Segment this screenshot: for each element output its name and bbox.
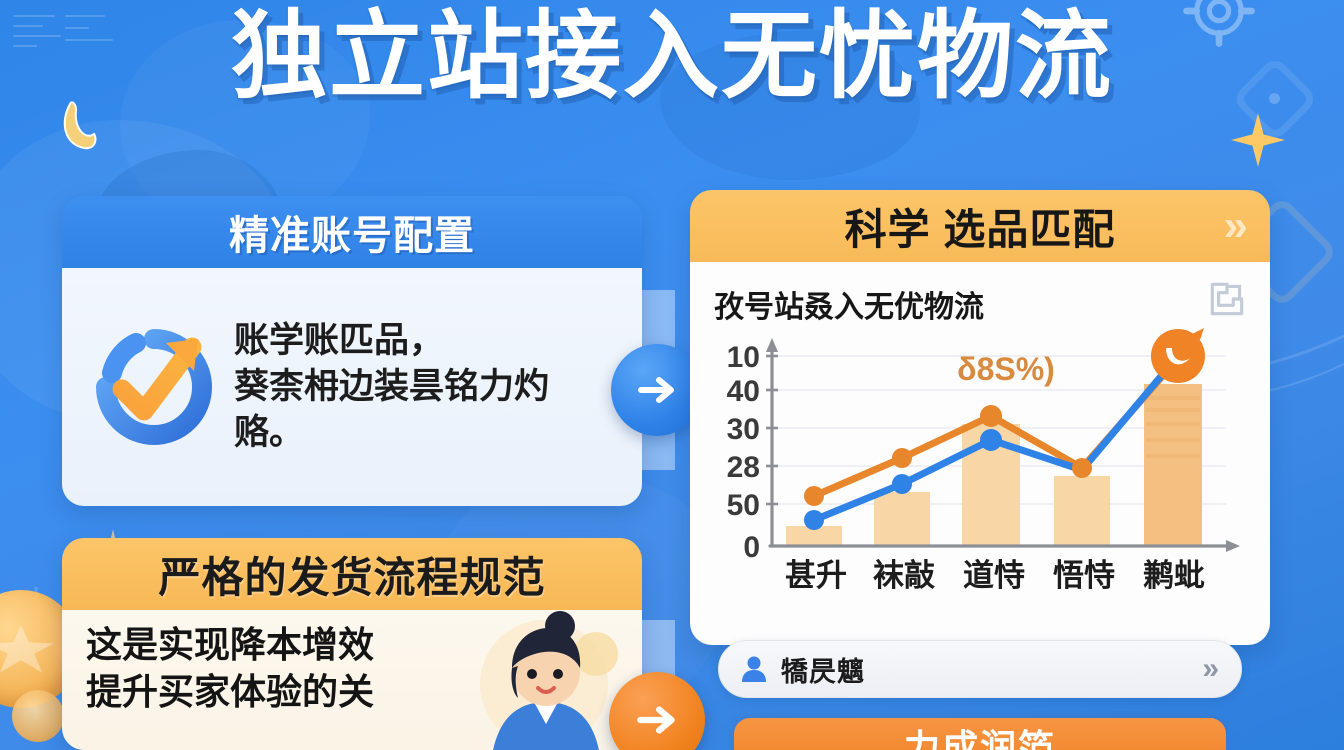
y-tick-label: 10 [727, 341, 760, 374]
chart-annotation-label: δ8S%) [957, 351, 1055, 387]
person-icon [739, 654, 769, 684]
y-tick-label: 30 [727, 413, 760, 446]
card-account-configuration[interactable]: 精准账号配置 账学账匹品， 葵柰枏边装昙铭力灼 赂。 [62, 196, 642, 506]
x-tick-label: 甚升 [785, 558, 847, 593]
sales-trend-chart: 10 40 30 28 50 0 甚升 袜敲 道恃 悟恃 鹣蚍 δ8S%) [706, 328, 1254, 598]
coin-decoration [12, 690, 64, 742]
account-summary-label: 犞昃魑 [781, 650, 865, 689]
card-product-header-label: 科学 选品匹配 [845, 196, 1116, 257]
card-account-header-label: 精准账号配置 [229, 203, 475, 261]
y-tick-label: 50 [727, 489, 760, 522]
chart-text-layer: 10 40 30 28 50 0 甚升 袜敲 道恃 悟恃 鹣蚍 δ8S%) [706, 328, 1254, 598]
card-account-body: 账学账匹品， 葵柰枏边装昙铭力灼 赂。 [62, 268, 642, 506]
card-product-body: 孜号站叒入无优物流 [690, 262, 1270, 645]
arrow-right-icon [633, 366, 681, 414]
chevron-double-right-icon[interactable]: » [1202, 654, 1219, 684]
sparkle-star-icon [1230, 112, 1286, 168]
chevron-double-right-icon[interactable]: » [1224, 204, 1248, 248]
card-shipping-header: 严格的发货流程规范 [62, 538, 642, 610]
card-account-body-text: 账学账匹品， 葵柰枏边装昙铭力灼 赂。 [234, 318, 549, 457]
primary-cta-button[interactable]: 力成润箔 [734, 718, 1226, 750]
x-tick-label: 鹣蚍 [1143, 558, 1205, 593]
y-tick-label: 28 [727, 451, 760, 484]
card-shipping-body: 这是实现降本增效 提升买家体验的关 [62, 610, 642, 750]
x-tick-label: 道恃 [963, 558, 1025, 593]
x-tick-label: 袜敲 [873, 558, 935, 593]
card-shipping-body-text: 这是实现降本增效 提升买家体验的关 [86, 622, 476, 716]
chart-title: 孜号站叒入无优物流 [714, 282, 1254, 326]
x-tick-label: 悟恃 [1053, 558, 1115, 593]
page-title: 独立站接入无忧物流 [0, 0, 1344, 119]
card-product-matching[interactable]: 科学 选品匹配 » 孜号站叒入无优物流 [690, 190, 1270, 645]
card-account-header: 精准账号配置 [62, 196, 642, 268]
y-tick-label: 0 [743, 531, 760, 564]
account-summary-pill[interactable]: 犞昃魑 » [718, 640, 1242, 698]
infographic-canvas: 独立站接入无忧物流 精准账号配置 账 [0, 0, 1344, 750]
card-shipping-process[interactable]: 严格的发货流程规范 这是实现降本增效 提升买家体验的关 [62, 538, 642, 750]
chart-expand-icon[interactable] [1206, 278, 1248, 320]
circular-growth-check-icon [92, 325, 216, 449]
arrow-right-icon [632, 695, 682, 745]
y-tick-label: 40 [727, 375, 760, 408]
primary-cta-label: 力成润箔 [904, 719, 1056, 750]
card-shipping-header-label: 严格的发货流程规范 [158, 544, 545, 605]
card-product-header: 科学 选品匹配 » [690, 190, 1270, 262]
